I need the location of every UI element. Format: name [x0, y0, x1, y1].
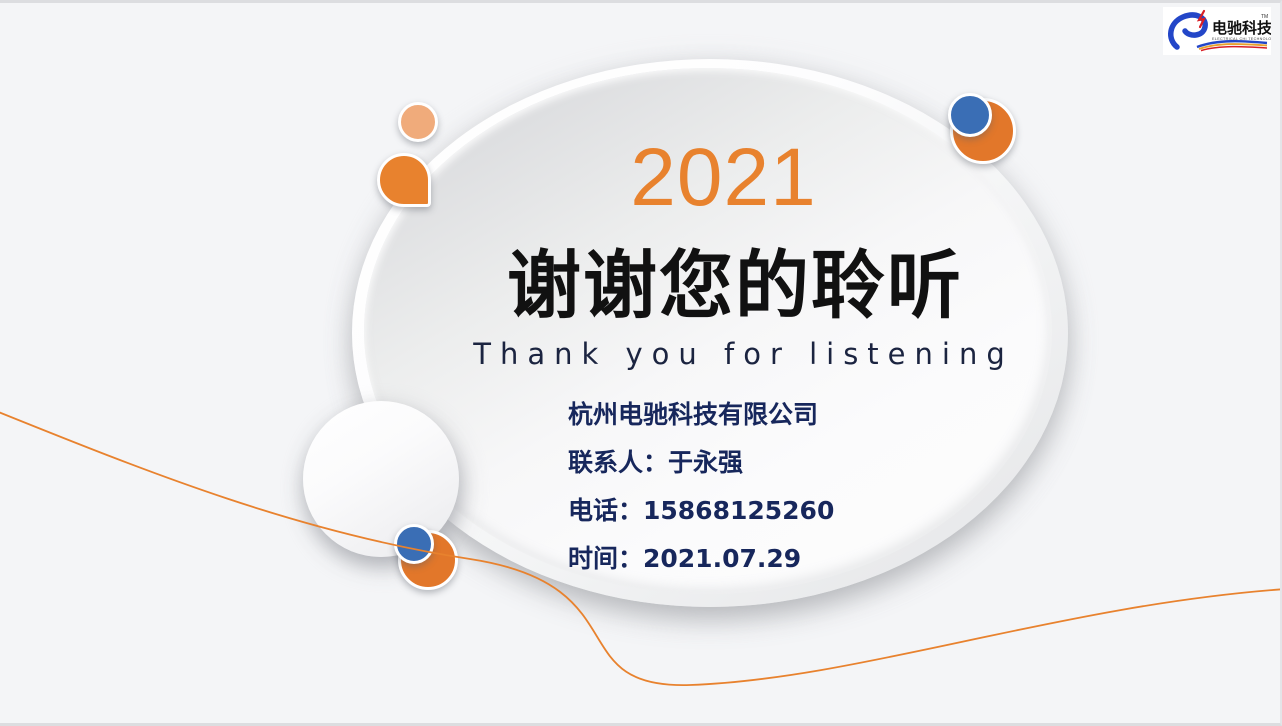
contact-company: 杭州电驰科技有限公司: [568, 391, 1088, 439]
presentation-slide: 电驰科技 TM ELECTRICAL CHI TECHNOLOGY 2021 谢…: [0, 0, 1282, 726]
contact-block: 杭州电驰科技有限公司 联系人：于永强 电话：15868125260 时间：202…: [568, 391, 1088, 583]
year-label: 2021: [0, 137, 1282, 219]
contact-date: 时间：2021.07.29: [568, 535, 1088, 583]
headline-chinese: 谢谢您的聆听: [0, 247, 1282, 327]
contact-phone: 电话：15868125260: [568, 487, 1088, 535]
slide-content: 2021 谢谢您的聆听 Thank you for listening 杭州电驰…: [0, 3, 1282, 726]
headline-english: Thank you for listening: [0, 337, 1282, 372]
contact-person: 联系人：于永强: [568, 439, 1088, 487]
